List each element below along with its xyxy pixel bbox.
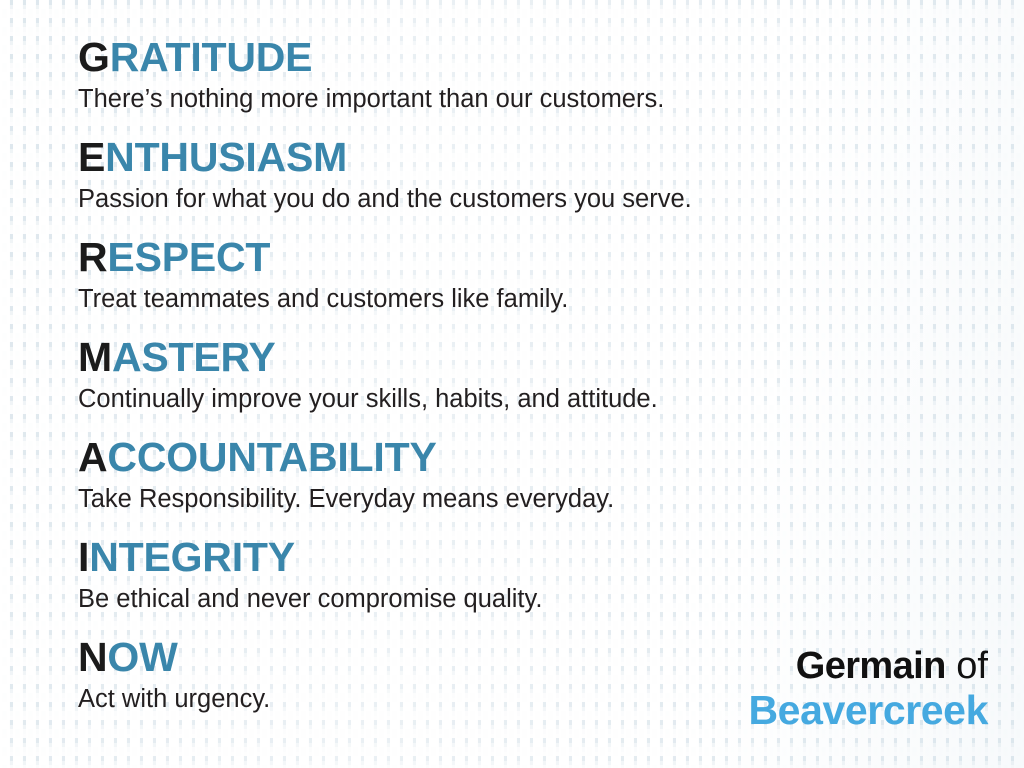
logo-brand-name: Germain: [796, 645, 946, 687]
value-heading-mastery: MASTERY: [78, 334, 978, 380]
value-description-respect: Treat teammates and customers like famil…: [78, 280, 978, 315]
value-heading-remainder: ESPECT: [107, 234, 270, 280]
value-block-accountability: ACCOUNTABILITY Take Responsibility. Ever…: [78, 434, 978, 534]
value-description-accountability: Take Responsibility. Everyday means ever…: [78, 480, 978, 515]
value-initial-letter: M: [78, 334, 112, 380]
value-description-integrity: Be ethical and never compromise quality.: [78, 580, 978, 615]
value-block-respect: RESPECT Treat teammates and customers li…: [78, 234, 978, 334]
value-description-gratitude: There’s nothing more important than our …: [78, 80, 978, 115]
value-block-enthusiasm: ENTHUSIASM Passion for what you do and t…: [78, 134, 978, 234]
value-heading-enthusiasm: ENTHUSIASM: [78, 134, 978, 180]
value-block-gratitude: GRATITUDE There’s nothing more important…: [78, 34, 978, 134]
value-initial-letter: R: [78, 234, 107, 280]
value-heading-remainder: CCOUNTABILITY: [107, 434, 436, 480]
value-block-integrity: INTEGRITY Be ethical and never compromis…: [78, 534, 978, 634]
value-heading-remainder: NTEGRITY: [89, 534, 295, 580]
value-initial-letter: G: [78, 34, 110, 80]
logo-connector-word: of: [956, 645, 988, 687]
value-initial-letter: E: [78, 134, 105, 180]
logo-primary-line: Germain of: [748, 645, 988, 687]
value-heading-remainder: RATITUDE: [110, 34, 313, 80]
value-heading-integrity: INTEGRITY: [78, 534, 978, 580]
value-initial-letter: A: [78, 434, 107, 480]
value-heading-gratitude: GRATITUDE: [78, 34, 978, 80]
value-initial-letter: I: [78, 534, 89, 580]
value-heading-remainder: NTHUSIASM: [105, 134, 347, 180]
value-description-enthusiasm: Passion for what you do and the customer…: [78, 180, 978, 215]
value-description-mastery: Continually improve your skills, habits,…: [78, 380, 978, 415]
value-initial-letter: N: [78, 634, 107, 680]
value-heading-remainder: ASTERY: [112, 334, 276, 380]
values-poster: GRATITUDE There’s nothing more important…: [0, 0, 1024, 768]
value-heading-accountability: ACCOUNTABILITY: [78, 434, 978, 480]
value-heading-respect: RESPECT: [78, 234, 978, 280]
value-block-mastery: MASTERY Continually improve your skills,…: [78, 334, 978, 434]
core-values-list: GRATITUDE There’s nothing more important…: [78, 34, 978, 734]
dealership-logo: Germain of Beavercreek: [748, 645, 988, 733]
logo-location-name: Beavercreek: [748, 687, 988, 733]
value-heading-remainder: OW: [107, 634, 177, 680]
